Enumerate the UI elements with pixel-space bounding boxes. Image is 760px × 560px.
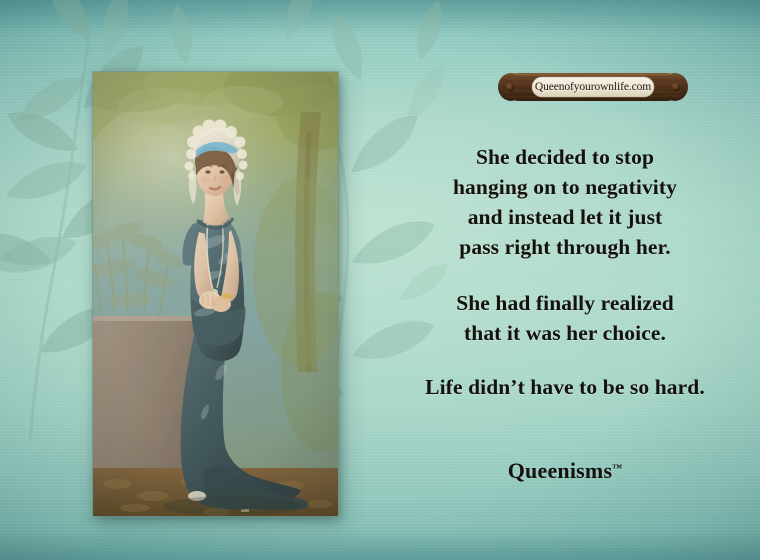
plaque-url-text: Queenofyourownlife.com (497, 81, 689, 93)
quote-line: hanging on to negativity (382, 172, 748, 202)
quote-line: that it was her choice. (382, 318, 748, 348)
website-plaque[interactable]: Queenofyourownlife.com (497, 71, 689, 103)
quote-line: Life didn’t have to be so hard. (382, 372, 748, 402)
quote-line: She decided to stop (382, 142, 748, 172)
paragraph-spacer (382, 348, 748, 372)
quote-line: pass right through her. (382, 232, 748, 262)
vintage-portrait-photograph (93, 72, 338, 516)
quote-line: She had finally realized (382, 288, 748, 318)
paragraph-spacer (382, 262, 748, 288)
brand-signature: Queenisms™ (382, 458, 748, 484)
trademark-symbol: ™ (612, 463, 622, 474)
poster-canvas: Queenofyourownlife.com She decided to st… (0, 0, 760, 560)
brand-name: Queenisms (508, 458, 612, 483)
quote-line: and instead let it just (382, 202, 748, 232)
quote-text-block: She decided to stop hanging on to negati… (382, 142, 748, 402)
